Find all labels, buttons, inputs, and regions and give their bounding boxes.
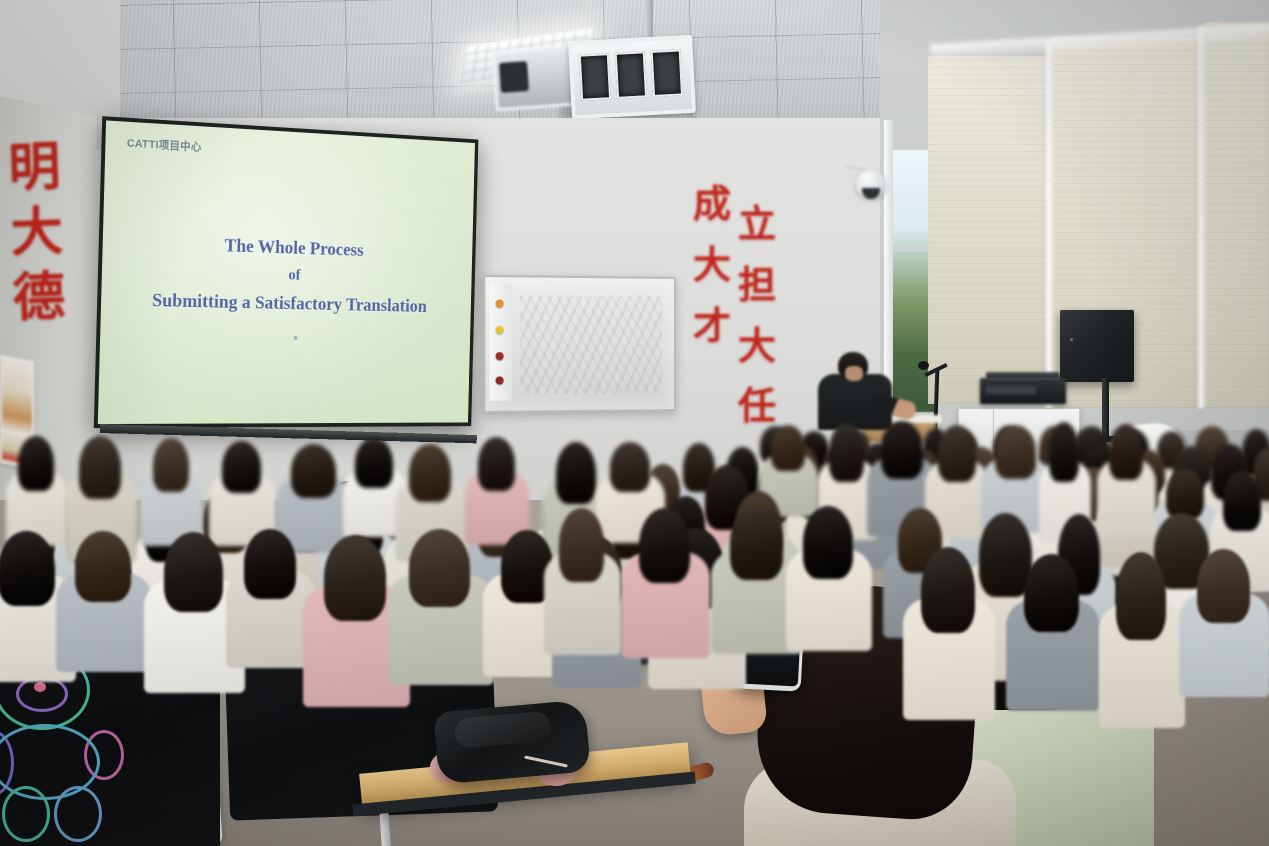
projector-security-cage [568,35,696,119]
calligraphy-char: 成 [690,186,734,225]
audience-hair [18,436,53,491]
window-frame [884,120,893,420]
audience-hair [324,535,386,621]
audience-hair [803,506,853,579]
calligraphy-char: 立 [735,206,779,245]
roller-blind[interactable] [1204,22,1269,408]
projector-mount-rod [646,0,653,42]
wall-calligraphy-left: 明 大 德 [1,141,74,338]
audience-hair [75,531,131,602]
calligraphy-char: 大 [735,328,779,367]
audience-hair [153,438,189,492]
bear-graphic-leg [2,786,50,842]
audience-hair [409,529,470,607]
audience-hair [478,437,515,491]
audience-hair [1166,469,1203,519]
audience-hair [771,425,806,471]
audience-hair [639,508,690,583]
presenter-face [845,366,863,381]
audience-hair [995,425,1037,479]
magnet-dot[interactable] [496,326,504,334]
audience-hair [244,529,296,599]
projector-lens [499,61,529,93]
audience-hair [1049,422,1079,481]
audience-hair [881,421,922,479]
audience-hair [355,438,393,488]
light-gap [1044,40,1054,410]
pa-speaker [1060,310,1134,382]
audience-hair [1223,471,1261,530]
slide-surface: CATTI项目中心 The Whole Process of Submittin… [98,120,475,424]
calligraphy-char: 才 [690,308,734,347]
audience-hair [938,425,976,481]
speaker-led [1070,338,1073,341]
audience-hair [610,442,650,493]
calligraphy-char: 德 [5,271,73,326]
magnet-dot[interactable] [496,299,504,307]
audience-hair [556,442,597,504]
audience-hair [291,444,336,499]
audience-hair [79,436,121,499]
roller-blind[interactable] [928,56,1048,404]
calligraphy-char: 明 [1,141,69,196]
audience-hair [1024,554,1079,633]
bear-graphic-leg [54,786,102,842]
classroom-photo: 明 大 德 成 大 才 立 担 大 任 CATTI项目中心 The Whole … [0,0,1269,846]
audience-hair [921,547,975,634]
audience-hair [222,441,261,493]
audience-hair [559,508,604,581]
microphone-icon [918,361,929,370]
slide-title: The Whole Process of Submitting a Satisf… [101,226,473,322]
audience-hair [829,423,865,481]
audience-hair [1197,549,1249,623]
audience-hair [409,444,451,502]
calligraphy-char: 大 [690,247,734,286]
audience-hair [0,531,55,607]
audience-hair [730,507,783,580]
black-bag[interactable] [433,700,591,785]
audience-hair [1116,552,1166,640]
light-gap [1196,26,1206,408]
wall-calligraphy-right-col1: 成 大 才 [690,186,734,368]
bag-fold [454,711,552,749]
audience-hair [164,532,223,612]
calligraphy-char: 大 [3,206,71,261]
bear-graphic-eye [34,682,46,692]
calligraphy-char: 担 [735,267,779,306]
magnet-dot[interactable] [496,352,504,360]
audience-hair [1109,424,1143,480]
